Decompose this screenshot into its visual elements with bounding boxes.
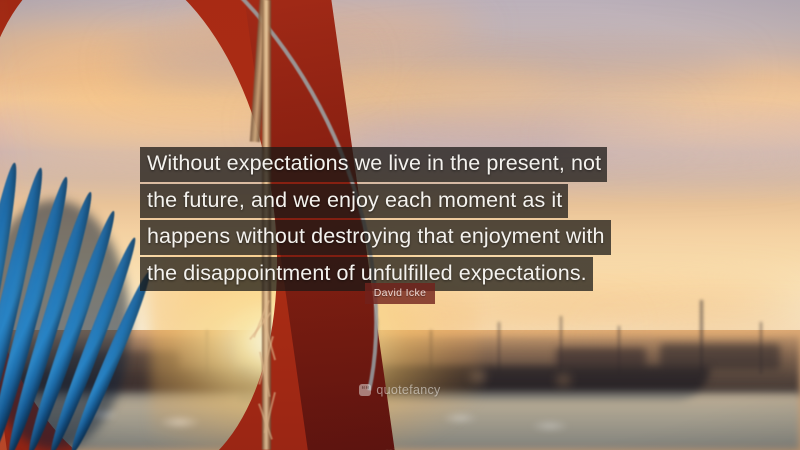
author-attribution: David Icke — [0, 283, 800, 304]
quotefancy-logo-icon: ““ — [359, 384, 371, 396]
watermark-brand: quotefancy — [376, 383, 440, 397]
quote-line: the future, and we enjoy each moment as … — [140, 184, 568, 219]
quote-line: happens without destroying that enjoymen… — [140, 220, 611, 255]
author-name: David Icke — [365, 283, 436, 304]
quote-card: Without expectations we live in the pres… — [0, 0, 800, 450]
quote-text-block: Without expectations we live in the pres… — [140, 147, 660, 293]
quote-line: Without expectations we live in the pres… — [140, 147, 607, 182]
watermark: ““ quotefancy — [0, 383, 800, 397]
